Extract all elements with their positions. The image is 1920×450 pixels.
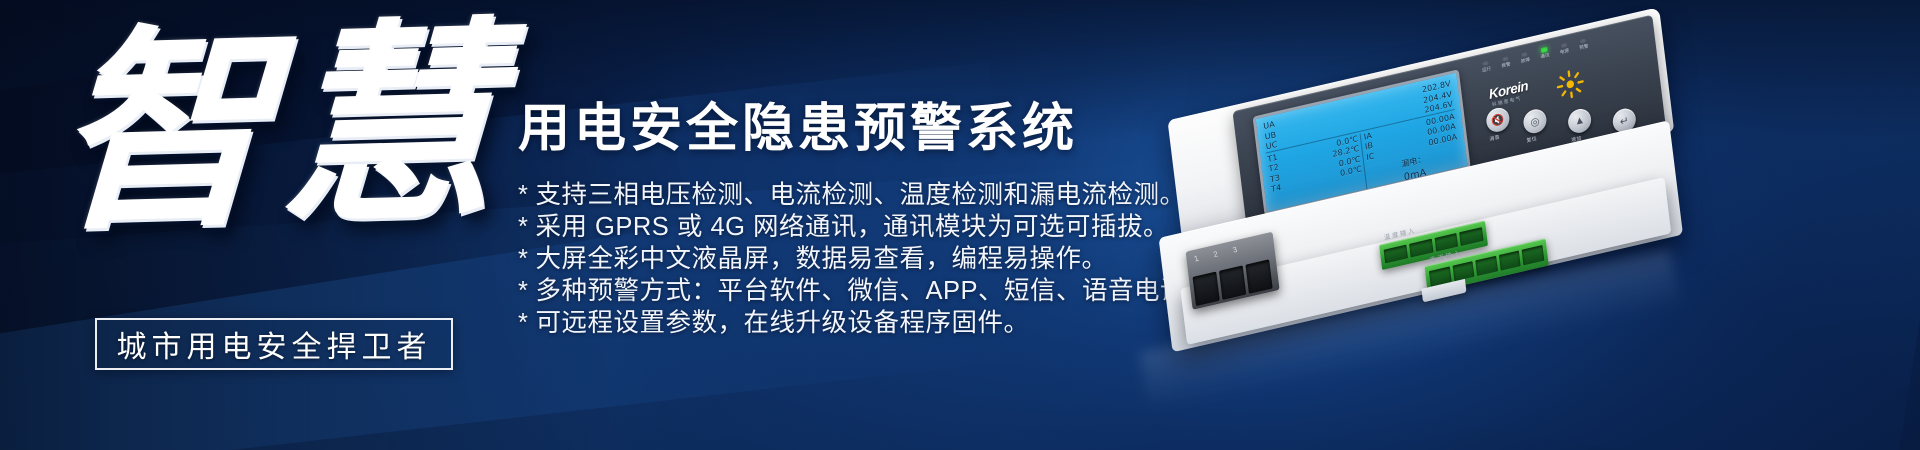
increase-button[interactable]: ▲ (1567, 107, 1593, 135)
bullet-text: 大屏全彩中文液晶屏，数据易查看，编程易操作。 (535, 245, 1107, 273)
bullet-text: 支持三相电压检测、电流检测、温度检测和漏电流检测。 (535, 181, 1185, 209)
reset-icon: ◎ (1530, 114, 1541, 129)
terminal-pin-number: 3 (1232, 245, 1239, 254)
terminal-pin (1475, 256, 1497, 276)
mute-button[interactable]: 🔇 (1485, 106, 1511, 134)
led-label: 报警 (1501, 61, 1511, 69)
led-indicator: 预警 (1578, 38, 1588, 52)
led-label: 运行 (1482, 66, 1492, 74)
bullet-marker: * (518, 181, 528, 209)
terminal-pin (1245, 259, 1272, 293)
enter-icon: ↵ (1619, 113, 1629, 128)
led-indicator: 报警 (1501, 55, 1511, 69)
reset-button[interactable]: ◎ (1522, 107, 1548, 135)
lcd-t4-label: T4 (1271, 182, 1282, 194)
terminal-pin (1193, 272, 1220, 306)
terminal-pin-number: 1 (1193, 254, 1200, 263)
bullet-text: 可远程设置参数，在线升级设备程序固件。 (535, 309, 1029, 337)
bullet-marker: * (518, 277, 528, 305)
led-label: 通讯 (1540, 52, 1550, 60)
slogan-box: 城市用电安全捍卫者 (95, 318, 453, 370)
bullet-marker: * (518, 309, 528, 337)
led-indicator: 运行 (1481, 60, 1491, 74)
terminal-pin-number: 2 (1212, 250, 1219, 259)
promo-banner: 智慧 城市用电安全捍卫者 用电安全隐患预警系统 *支持三相电压检测、电流检测、温… (0, 0, 1920, 450)
led-indicator: 电源 (1559, 42, 1569, 56)
product-device-image: UA202.8V UB204.4V UC204.6V T10.0℃ T228.2… (1105, 8, 1905, 348)
slogan-text: 城市用电安全捍卫者 (117, 322, 432, 366)
calligraphy-block: 智慧 (60, 14, 480, 314)
bullet-marker: * (518, 213, 528, 241)
led-indicator: 故障 (1520, 51, 1530, 65)
bullet-text: 采用 GPRS 或 4G 网络通讯，通讯模块为可选可插拔。 (535, 213, 1169, 241)
page-title: 用电安全隐患预警系统 (518, 86, 1078, 161)
reset-button-label: 复位 (1526, 135, 1537, 144)
lcd-ic-label: IC (1366, 150, 1375, 162)
terminal-pin (1219, 265, 1246, 299)
led-label: 电源 (1560, 48, 1570, 56)
terminal-pin (1522, 245, 1544, 265)
mute-icon: 🔇 (1491, 112, 1505, 128)
led-label: 故障 (1521, 57, 1531, 65)
calligraphy-text: 智慧 (50, 3, 481, 254)
terminal-pin (1459, 227, 1483, 246)
mute-button-label: 消音 (1489, 134, 1500, 143)
up-triangle-icon: ▲ (1574, 114, 1586, 128)
led-label: 预警 (1579, 43, 1589, 51)
led-indicator: 通讯 (1539, 47, 1549, 61)
terminal-pin (1499, 250, 1521, 270)
bullet-marker: * (518, 245, 528, 273)
terminal-pin (1384, 245, 1408, 264)
